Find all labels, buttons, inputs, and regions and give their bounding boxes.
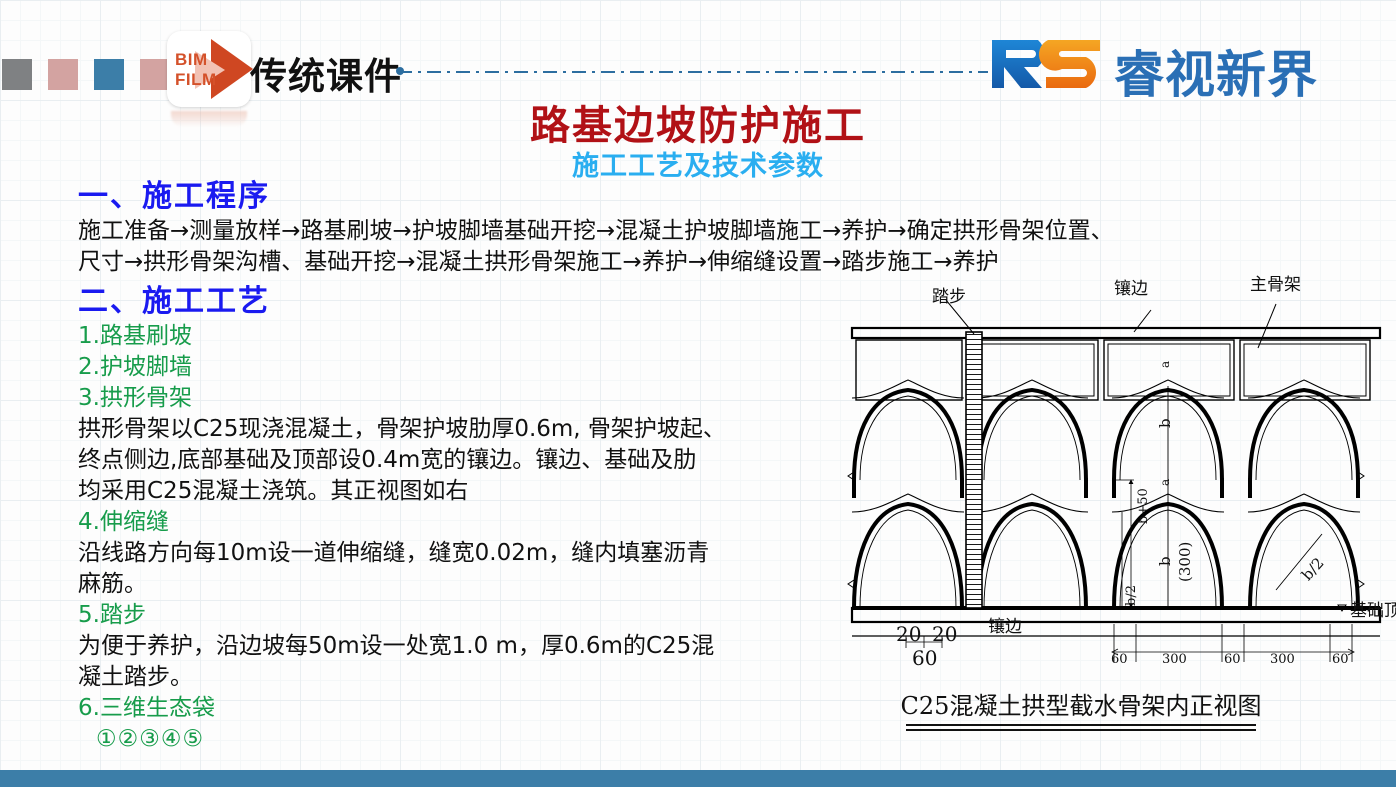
section-2-item-3: 3.拱形骨架 bbox=[78, 383, 838, 414]
section-1-line-2: 尺寸→拱形骨架沟槽、基础开挖→混凝土拱形骨架施工→养护→伸缩缝设置→踏步施工→养… bbox=[78, 247, 838, 278]
technical-drawing: 踏步 镶边 主骨架 镶边 基础顶面线 b a a b (300) b+50 b/… bbox=[846, 290, 1391, 680]
dim-a-mid: a bbox=[1158, 479, 1172, 486]
callout-label-edging-top: 镶边 bbox=[1114, 274, 1148, 299]
callout-label-main-frame: 主骨架 bbox=[1250, 270, 1301, 295]
drawing-caption: C25混凝土拱型截水骨架内正视图 bbox=[846, 686, 1316, 731]
content-left-column: 一、施工程序 施工准备→测量放样→路基刷坡→护坡脚墙基础开挖→混凝土护坡脚墙施工… bbox=[78, 178, 838, 755]
section-2-item-4-line-2: 麻筋。 bbox=[78, 569, 838, 600]
section-2-heading: 二、施工工艺 bbox=[78, 283, 838, 321]
callout-label-edging-bottom: 镶边 bbox=[988, 612, 1022, 637]
callout-label-foundation-line: 基础顶面线 bbox=[1350, 596, 1396, 621]
decor-square-1 bbox=[2, 59, 32, 90]
dim-a-top: a bbox=[1158, 361, 1172, 368]
logo-text-film: FILM bbox=[175, 70, 217, 90]
dim-bottom-1: 60 bbox=[1111, 652, 1128, 667]
page-title: 路基边坡防护施工 bbox=[0, 93, 1396, 151]
arch-frame-front-view-svg bbox=[846, 290, 1391, 680]
rs-mark-icon bbox=[988, 36, 1106, 92]
section-2-item-2: 2.护坡脚墙 bbox=[78, 352, 838, 383]
dim-b-upper: b bbox=[1156, 418, 1174, 428]
callout-label-steps: 踏步 bbox=[932, 282, 966, 307]
dim-bottom-3: 60 bbox=[1224, 652, 1241, 667]
circled-number-list: ①②③④⑤ bbox=[78, 724, 838, 755]
section-1-line-1: 施工准备→测量放样→路基刷坡→护坡脚墙基础开挖→混凝土护坡脚墙施工→养护→确定拱… bbox=[78, 216, 838, 247]
section-2-item-3-line-2: 终点侧边,底部基础及顶部设0.4m宽的镶边。镶边、基础及肋 bbox=[78, 445, 838, 476]
section-2-item-3-line-3: 均采用C25混凝土浇筑。其正视图如右 bbox=[78, 476, 838, 507]
footer-bar bbox=[0, 770, 1396, 787]
section-2-item-4-line-1: 沿线路方向每10m设一道伸缩缝，缝宽0.02m，缝内填塞沥青 bbox=[78, 538, 838, 569]
section-1-heading: 一、施工程序 bbox=[78, 178, 838, 216]
section-2-item-5: 5.踏步 bbox=[78, 600, 838, 631]
dim-bottom-2: 300 bbox=[1162, 652, 1187, 667]
section-2-item-4: 4.伸缩缝 bbox=[78, 507, 838, 538]
dim-left-20-a: 20 bbox=[896, 622, 921, 646]
ruishi-logo: 睿视新界 bbox=[988, 36, 1384, 98]
decor-square-2 bbox=[48, 59, 78, 90]
dim-b-half-bottom: b/2 bbox=[1124, 585, 1139, 606]
section-2-item-6: 6.三维生态袋 bbox=[78, 693, 838, 724]
drawing-caption-text: C25混凝土拱型截水骨架内正视图 bbox=[901, 692, 1262, 720]
dim-b-plus-50: b+50 bbox=[1136, 488, 1151, 524]
section-2-item-1: 1.路基刷坡 bbox=[78, 321, 838, 352]
logo-text-bim: BIM bbox=[175, 50, 208, 70]
dim-b-paren: (300) bbox=[1176, 542, 1194, 582]
caption-double-underline bbox=[906, 724, 1256, 731]
section-2-item-3-line-1: 拱形骨架以C25现浇混凝土，骨架护坡肋厚0.6m, 骨架护坡起、 bbox=[78, 414, 838, 445]
dim-bottom-4: 300 bbox=[1270, 652, 1295, 667]
brand-title: 传统课件 bbox=[250, 46, 402, 100]
section-2-item-5-line-2: 凝土踏步。 bbox=[78, 662, 838, 693]
decor-square-3 bbox=[94, 59, 124, 90]
dim-left-20-b: 20 bbox=[932, 622, 957, 646]
decorative-dash-line bbox=[398, 70, 988, 73]
dim-bottom-5: 60 bbox=[1332, 652, 1349, 667]
decor-square-4 bbox=[140, 59, 170, 90]
dim-b-lower: b bbox=[1156, 556, 1174, 566]
section-2-item-5-line-1: 为便于养护，沿边坡每50m设一处宽1.0 m，厚0.6m的C25混 bbox=[78, 631, 838, 662]
dim-left-60: 60 bbox=[912, 646, 937, 670]
